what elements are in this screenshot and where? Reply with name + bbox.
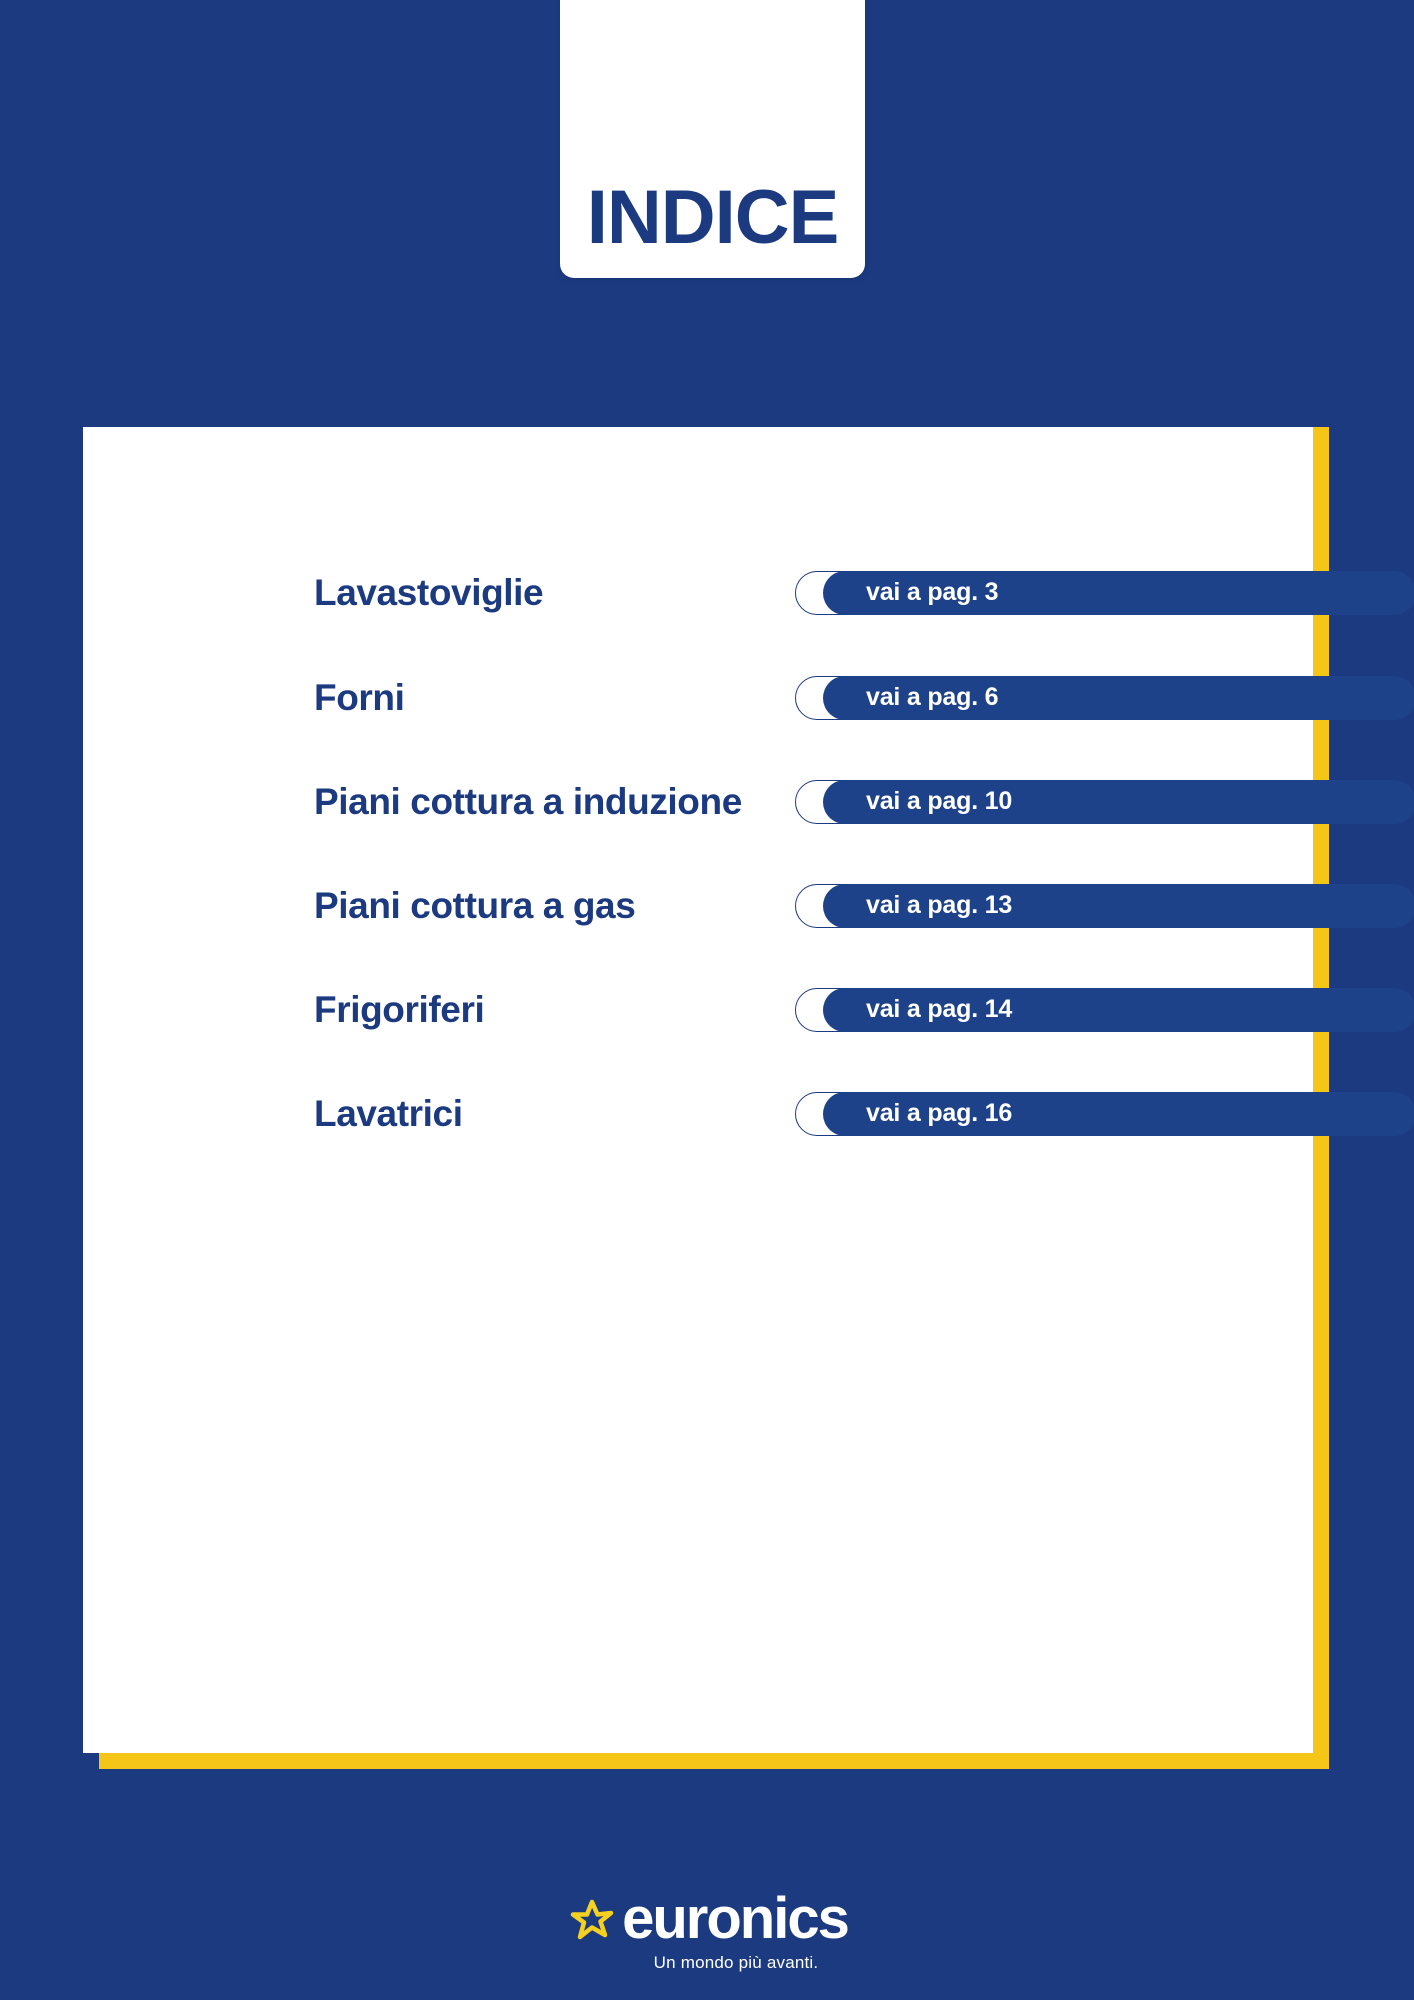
brand-tagline: Un mondo più avanti.	[654, 1953, 819, 1973]
index-item-label: Lavatrici	[314, 1093, 463, 1135]
goto-page-button[interactable]: vai a pag. 3	[795, 571, 1414, 615]
goto-page-button-fill: vai a pag. 10	[823, 780, 1414, 824]
index-item-label: Lavastoviglie	[314, 572, 543, 614]
index-item-label: Piani cottura a gas	[314, 885, 635, 927]
goto-page-button[interactable]: vai a pag. 10	[795, 780, 1414, 824]
goto-page-label: vai a pag. 6	[866, 683, 998, 712]
index-row[interactable]: Lavatrici vai a pag. 16	[83, 1081, 1414, 1147]
goto-page-button[interactable]: vai a pag. 14	[795, 988, 1414, 1032]
goto-page-label: vai a pag. 13	[866, 891, 1012, 920]
index-row[interactable]: Piani cottura a induzione vai a pag. 10	[83, 769, 1414, 835]
goto-page-button[interactable]: vai a pag. 16	[795, 1092, 1414, 1136]
goto-page-button-fill: vai a pag. 3	[823, 571, 1414, 615]
index-item-label: Forni	[314, 677, 404, 719]
goto-page-button[interactable]: vai a pag. 6	[795, 676, 1414, 720]
index-item-label: Frigoriferi	[314, 989, 484, 1031]
page-title: INDICE	[587, 180, 839, 256]
goto-page-button[interactable]: vai a pag. 13	[795, 884, 1414, 928]
index-list: Lavastoviglie vai a pag. 3 Forni vai a p…	[83, 427, 1414, 1753]
brand-name: euronics	[622, 1890, 848, 1948]
index-row[interactable]: Lavastoviglie vai a pag. 3	[83, 560, 1414, 626]
goto-page-button-fill: vai a pag. 13	[823, 884, 1414, 928]
index-row[interactable]: Frigoriferi vai a pag. 14	[83, 977, 1414, 1043]
goto-page-button-fill: vai a pag. 6	[823, 676, 1414, 720]
index-row[interactable]: Forni vai a pag. 6	[83, 665, 1414, 731]
euronics-star-icon	[566, 1893, 618, 1945]
goto-page-button-fill: vai a pag. 16	[823, 1092, 1414, 1136]
footer-logo: euronics Un mondo più avanti.	[0, 1890, 1414, 1973]
index-row[interactable]: Piani cottura a gas vai a pag. 13	[83, 873, 1414, 939]
page-background: INDICE Lavastoviglie vai a pag. 3 Forni …	[0, 0, 1414, 2000]
logo-lockup: euronics	[566, 1890, 848, 1948]
indice-header-tab: INDICE	[560, 0, 865, 278]
goto-page-label: vai a pag. 16	[866, 1099, 1012, 1128]
goto-page-button-fill: vai a pag. 14	[823, 988, 1414, 1032]
index-item-label: Piani cottura a induzione	[314, 781, 742, 823]
goto-page-label: vai a pag. 3	[866, 578, 998, 607]
goto-page-label: vai a pag. 14	[866, 995, 1012, 1024]
goto-page-label: vai a pag. 10	[866, 787, 1012, 816]
